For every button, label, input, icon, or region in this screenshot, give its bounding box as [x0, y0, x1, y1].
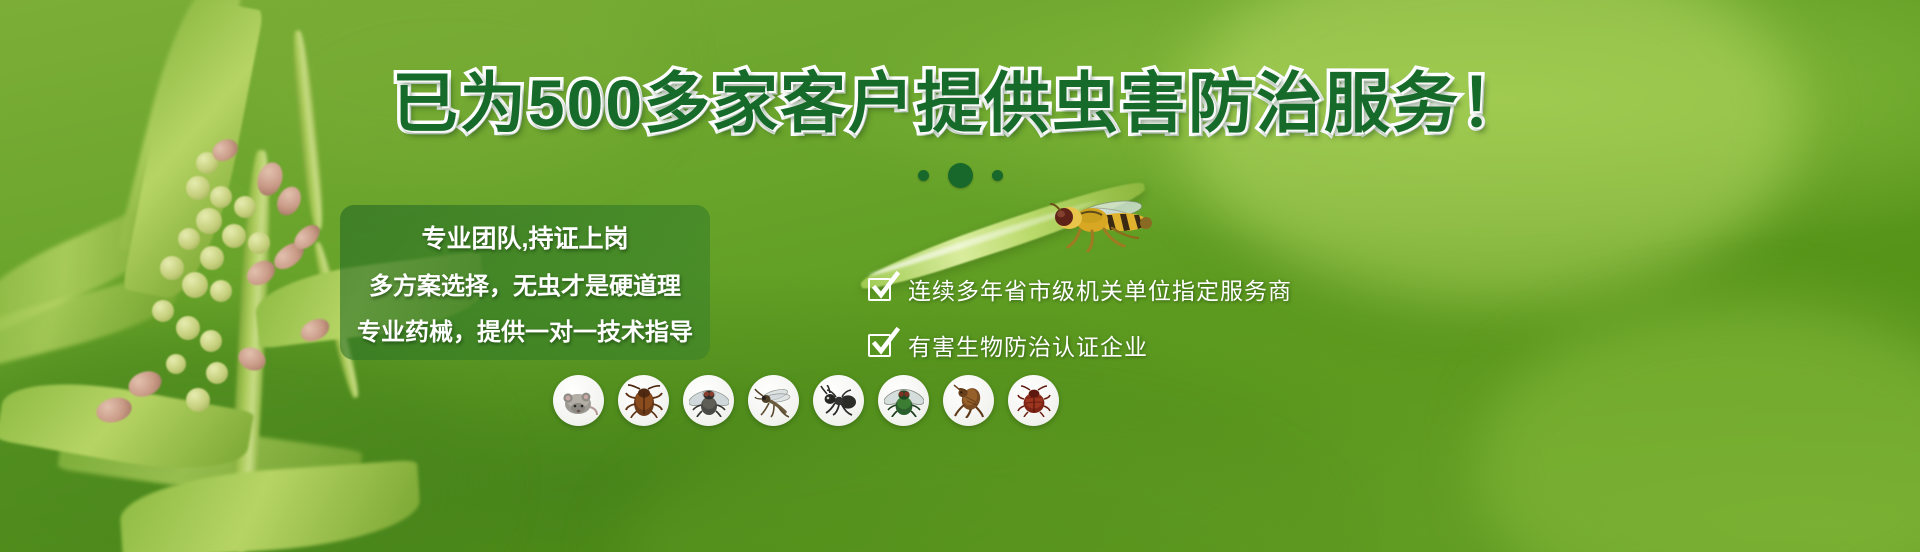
plant-bud — [222, 224, 246, 248]
pest-badge[interactable] — [553, 375, 604, 426]
plant-bud — [206, 362, 228, 384]
selling-point-line-1: 专业团队,持证上岗 — [422, 219, 629, 255]
blowfly-icon — [884, 385, 924, 417]
banner-headline-text: 已为500多家客户提供虫害防治服务！ — [392, 66, 1528, 140]
plant-bud — [182, 272, 208, 298]
hero-banner: 已为500多家客户提供虫害防治服务！ 专业团队,持证上岗 多方案选择，无虫才是硬… — [0, 0, 1920, 552]
pest-badge[interactable] — [683, 375, 734, 426]
cockroach-icon — [625, 384, 663, 418]
bullet-label: 连续多年省市级机关单位指定服务商 — [908, 272, 1292, 306]
plant-bud — [200, 246, 224, 270]
decor-dot-large-center — [948, 163, 973, 188]
plant-bud — [210, 280, 232, 302]
plant-leaf — [118, 460, 423, 552]
plant-bud — [176, 316, 200, 340]
checkbox-checked-icon — [868, 332, 894, 358]
decorative-dots — [0, 163, 1920, 188]
flea-icon — [952, 384, 986, 418]
selling-point-line-3: 专业药械，提供一对一技术指导 — [357, 312, 693, 347]
pest-badge[interactable] — [1008, 375, 1059, 426]
plant-bud — [200, 330, 222, 352]
plant-bud — [178, 228, 200, 250]
bullet-label: 有害生物防治认证企业 — [908, 328, 1148, 362]
plant-bud — [234, 196, 256, 218]
plant-bud — [248, 232, 270, 254]
plant-bud — [152, 300, 174, 322]
pest-icon-row — [553, 375, 1059, 426]
banner-headline: 已为500多家客户提供虫害防治服务！ — [0, 70, 1920, 136]
bedbug-icon — [1017, 385, 1051, 417]
plant-bud — [186, 388, 210, 412]
plant-bud — [210, 186, 232, 208]
plant-leaf — [0, 369, 254, 483]
housefly-icon — [689, 385, 729, 417]
pest-badge[interactable] — [878, 375, 929, 426]
checkbox-checked-icon — [868, 276, 894, 302]
pest-badge[interactable] — [618, 375, 669, 426]
bullet-item: 连续多年省市级机关单位指定服务商 — [868, 272, 1292, 306]
pest-badge[interactable] — [943, 375, 994, 426]
selling-points-text-group: 专业团队,持证上岗 多方案选择，无虫才是硬道理 专业药械，提供一对一技术指导 — [340, 205, 710, 360]
decor-dot-small-left — [918, 170, 929, 181]
plant-bud — [166, 354, 186, 374]
mosquito-icon — [754, 384, 794, 418]
pest-badge[interactable] — [748, 375, 799, 426]
plant-bud — [160, 256, 184, 280]
hoverfly-insect — [1050, 196, 1160, 254]
certification-bullets: 连续多年省市级机关单位指定服务商 有害生物防治认证企业 — [868, 272, 1292, 362]
pest-badge[interactable] — [813, 375, 864, 426]
bullet-item: 有害生物防治认证企业 — [868, 328, 1292, 362]
ant-icon — [820, 385, 858, 417]
plant-bud — [196, 208, 222, 234]
selling-point-line-2: 多方案选择，无虫才是硬道理 — [369, 266, 681, 301]
decor-dot-small-right — [992, 170, 1003, 181]
rodent-icon — [559, 385, 599, 417]
